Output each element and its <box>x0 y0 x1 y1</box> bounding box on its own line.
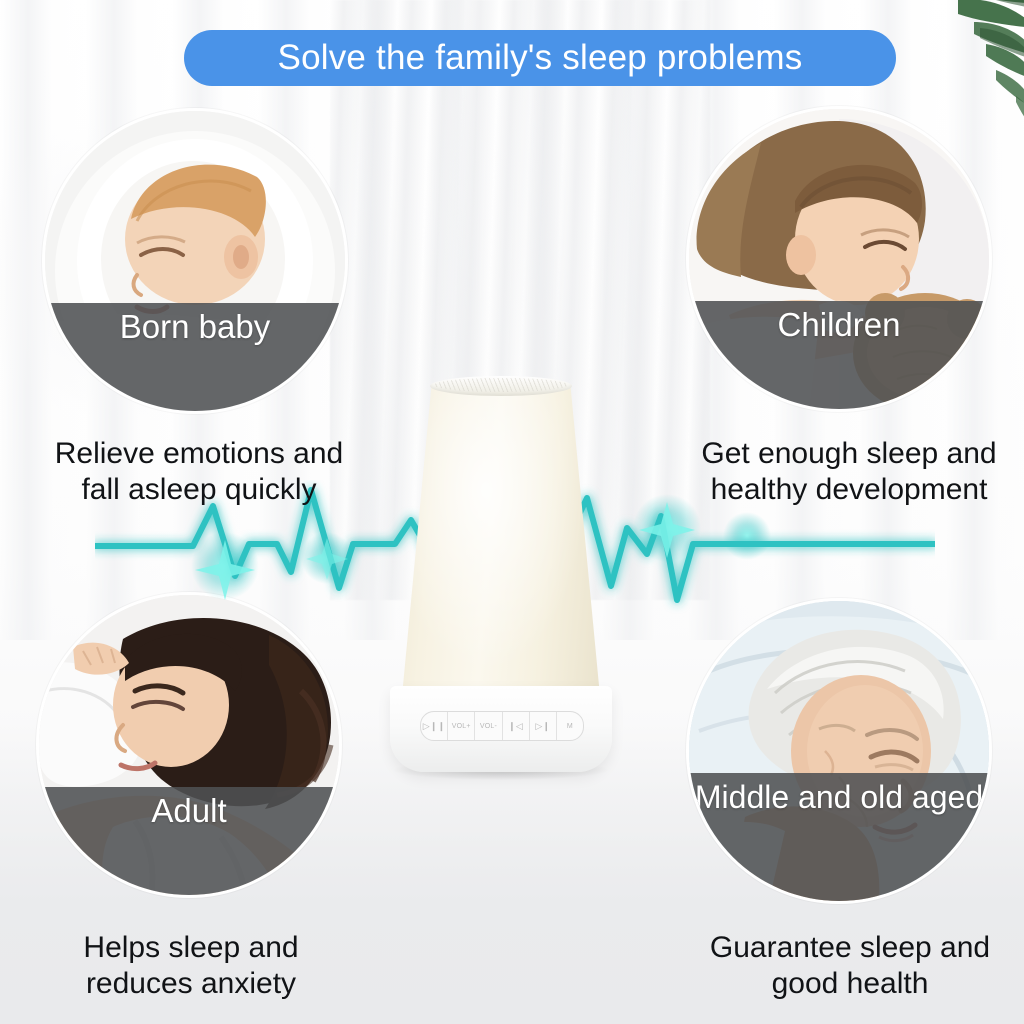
panel-children-label: Children <box>778 307 901 343</box>
volume-up-button[interactable]: VOL+ <box>448 712 475 740</box>
previous-track-button[interactable]: ❙◁ <box>503 712 530 740</box>
next-track-button[interactable]: ▷❙ <box>530 712 557 740</box>
panel-baby: Born baby <box>42 108 348 414</box>
panel-elderly-label: Middle and old aged <box>695 779 983 816</box>
panel-baby-band: Born baby <box>45 303 345 411</box>
panel-elderly: Middle and old aged <box>686 598 992 904</box>
mode-button[interactable]: M <box>557 712 583 740</box>
panel-adult-label: Adult <box>151 793 226 829</box>
panel-children: Children <box>686 106 992 412</box>
caption-elderly: Guarantee sleep and good health <box>676 930 1024 1002</box>
lamp-speaker-grille <box>434 378 568 392</box>
play-pause-button[interactable]: ▷❙❙ <box>421 712 448 740</box>
page-title-text: Solve the family's sleep problems <box>278 38 803 78</box>
lamp-control-strip[interactable]: ▷❙❙ VOL+ VOL- ❙◁ ▷❙ M <box>420 711 584 741</box>
product-sleep-lamp: ▷❙❙ VOL+ VOL- ❙◁ ▷❙ M <box>372 368 630 780</box>
product-infographic: Solve the family's sleep problems <box>0 0 1024 1024</box>
volume-down-button[interactable]: VOL- <box>475 712 502 740</box>
caption-children: Get enough sleep and healthy development <box>674 436 1024 508</box>
panel-elderly-band: Middle and old aged <box>689 773 989 901</box>
caption-baby: Relieve emotions and fall asleep quickly <box>14 436 384 508</box>
caption-adult: Helps sleep and reduces anxiety <box>16 930 366 1002</box>
panel-adult-band: Adult <box>39 787 339 895</box>
panel-adult: Adult <box>36 592 342 898</box>
panel-baby-label: Born baby <box>120 309 270 345</box>
panel-children-band: Children <box>689 301 989 409</box>
lamp-glow <box>402 384 600 696</box>
page-title: Solve the family's sleep problems <box>184 30 896 86</box>
